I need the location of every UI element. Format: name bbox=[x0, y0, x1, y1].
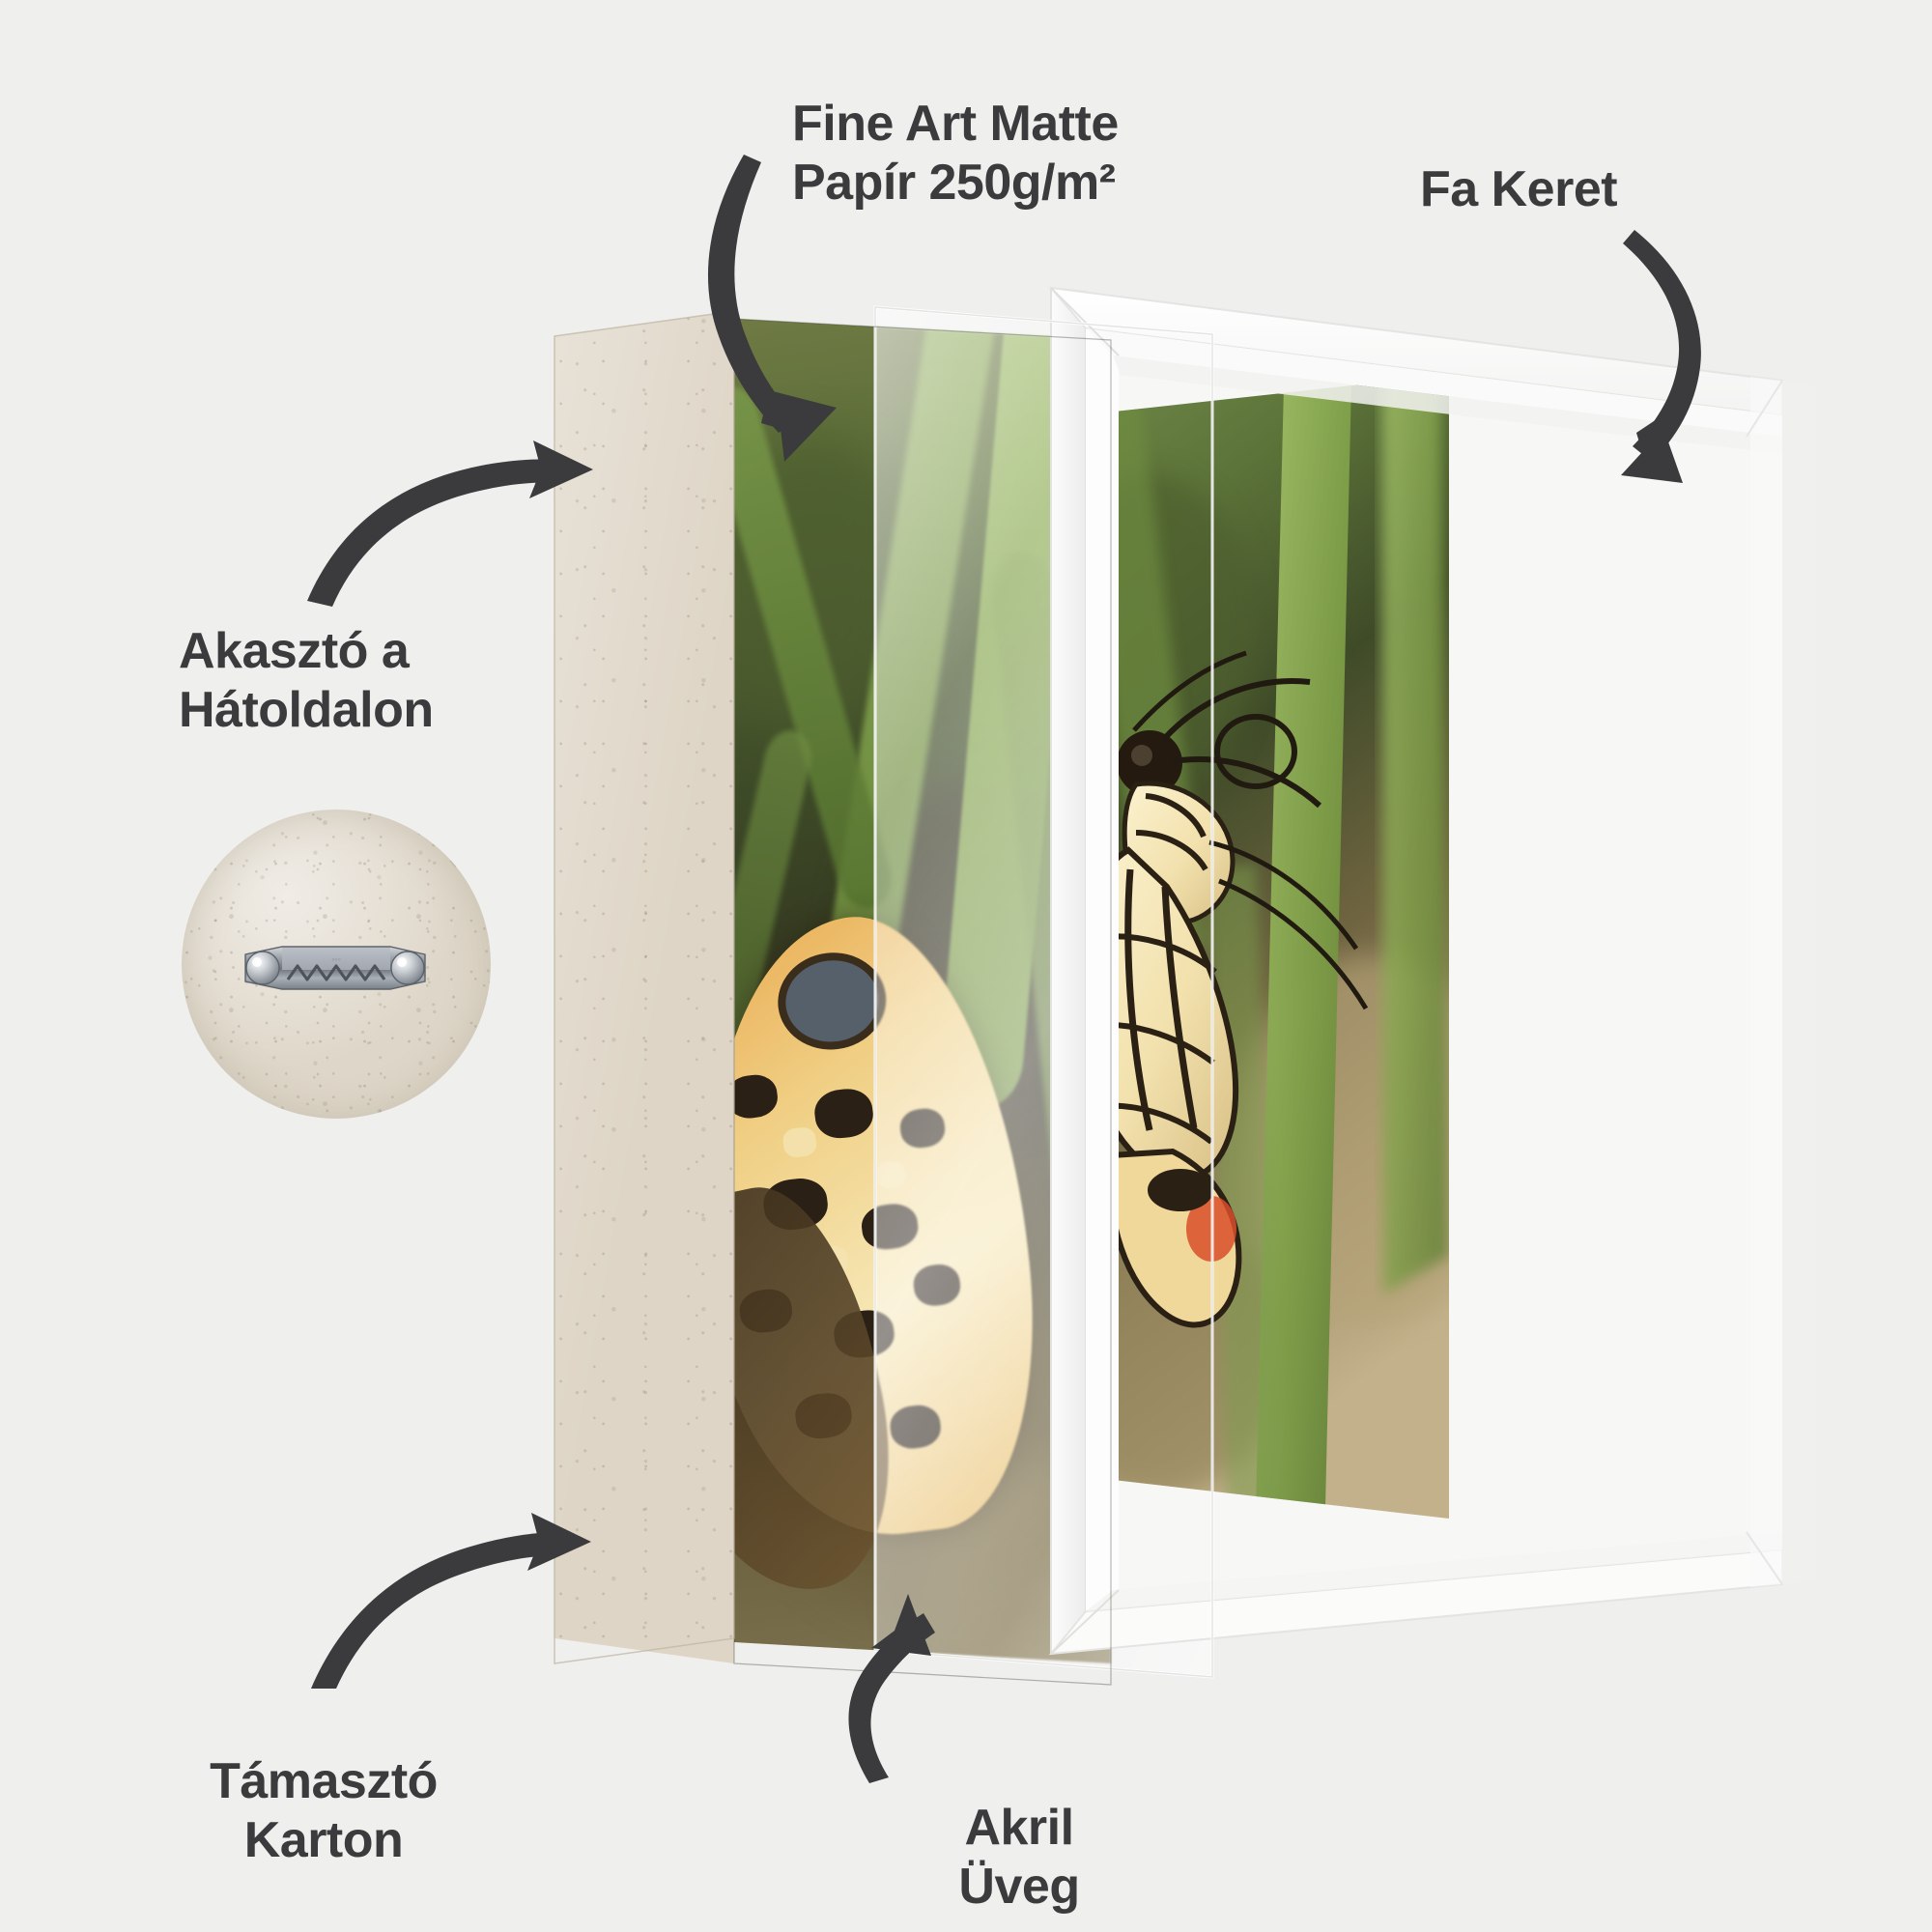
frame-rail-right bbox=[1782, 381, 1816, 1584]
arrow-hanger-icon bbox=[307, 440, 593, 607]
arrow-acrylic-icon bbox=[848, 1594, 935, 1783]
frame-rail-left bbox=[1051, 288, 1086, 1654]
label-hanger: Akasztó a Hátoldalon bbox=[179, 622, 434, 741]
label-paper: Fine Art Matte Papír 250g/m² bbox=[792, 95, 1119, 213]
backing-card-outline bbox=[554, 311, 734, 1663]
infographic-stage: ◦◦◦ Fine Art Matte Papír 250g/m² Fa Kere… bbox=[0, 0, 1932, 1932]
svg-text:◦◦◦: ◦◦◦ bbox=[331, 954, 341, 964]
hanger-bracket-icon: ◦◦◦ bbox=[182, 810, 491, 1119]
hanger-detail-inset: ◦◦◦ bbox=[182, 810, 491, 1119]
label-frame: Fa Keret bbox=[1420, 160, 1617, 219]
label-backing-card: Támasztó Karton bbox=[179, 1752, 469, 1871]
label-acrylic-glass: Akril Üveg bbox=[923, 1799, 1116, 1918]
arrow-card-icon bbox=[311, 1513, 591, 1689]
